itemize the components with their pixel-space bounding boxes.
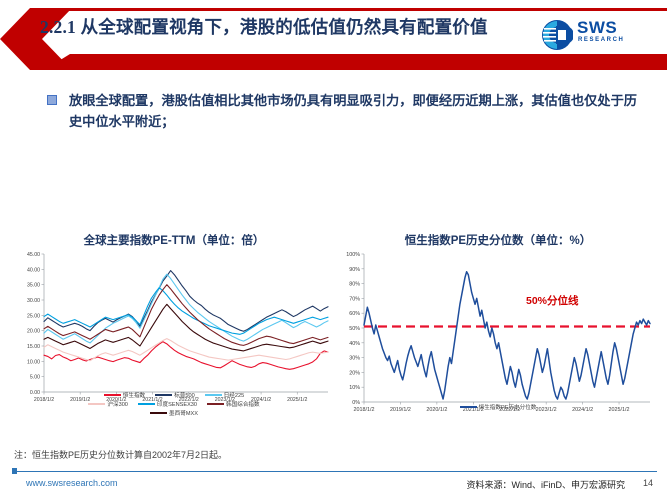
legend-swatch-icon <box>104 394 121 396</box>
bullet-text: 放眼全球配置，港股估值相比其他市场仍具有明显吸引力，即便经历近期上涨，其估值也仅… <box>69 90 637 132</box>
page-title: 2.2.1 从全球配置视角下，港股的低估值仍然具有配置价值 <box>40 14 488 39</box>
svg-text:30%: 30% <box>349 356 360 362</box>
header-red-underline <box>44 54 667 70</box>
legend-left: 恒生指数标普500日经225 沪深300印度SENSEX30韩国综合指数 墨西哥… <box>14 390 334 417</box>
legend-label: 沪深300 <box>107 400 128 408</box>
legend-label: 日经225 <box>224 391 245 399</box>
legend-swatch-icon <box>155 394 172 396</box>
legend-item: 印度SENSEX30 <box>138 400 197 408</box>
footer-source: 资料来源：Wind、iFinD、申万宏源研究 <box>466 478 625 491</box>
plot-area-right: 0%10%20%30%40%50%60%70%80%90%100%2018/1/… <box>338 248 658 418</box>
svg-text:40%: 40% <box>349 341 360 347</box>
legend-swatch-icon <box>150 412 167 414</box>
sws-logo: SWS RESEARCH <box>541 18 659 52</box>
legend-swatch-icon <box>88 403 105 405</box>
legend-item: 日经225 <box>205 391 245 399</box>
slide: 2.2.1 从全球配置视角下，港股的低估值仍然具有配置价值 SWS RESEAR… <box>0 0 667 500</box>
legend-item: 沪深300 <box>88 400 128 408</box>
percentile-annotation: 50%分位线 <box>526 293 579 308</box>
svg-text:25.00: 25.00 <box>27 313 40 319</box>
svg-text:20%: 20% <box>349 370 360 376</box>
svg-text:70%: 70% <box>349 296 360 302</box>
svg-text:30.00: 30.00 <box>27 298 40 304</box>
svg-text:10.00: 10.00 <box>27 359 40 365</box>
legend-label: 印度SENSEX30 <box>157 400 197 408</box>
legend-swatch-icon <box>460 406 477 408</box>
legend-item: 墨西哥MXX <box>150 409 198 417</box>
line-chart-left: 0.005.0010.0015.0020.0025.0030.0035.0040… <box>14 248 334 408</box>
slide-header: 2.2.1 从全球配置视角下，港股的低估值仍然具有配置价值 SWS RESEAR… <box>0 8 667 70</box>
footer-divider <box>12 471 657 472</box>
chart-global-pe-ttm: 全球主要指数PE-TTM（单位：倍） 0.005.0010.0015.0020.… <box>14 232 334 432</box>
line-chart-right: 0%10%20%30%40%50%60%70%80%90%100%2018/1/… <box>338 248 658 418</box>
footnote: 注：恒生指数PE历史分位数计算自2002年7月2日起。 <box>14 448 227 461</box>
legend-label: 墨西哥MXX <box>169 409 198 417</box>
svg-text:80%: 80% <box>349 282 360 288</box>
svg-text:5.00: 5.00 <box>30 375 40 381</box>
chart-title-left: 全球主要指数PE-TTM（单位：倍） <box>14 232 334 248</box>
legend-label: 恒生指数PE历史分位数 <box>479 403 537 411</box>
footer-website-link[interactable]: www.swsresearch.com <box>26 478 118 488</box>
legend-label: 韩国综合指数 <box>226 400 260 408</box>
svg-text:90%: 90% <box>349 267 360 273</box>
legend-right: 恒生指数PE历史分位数 <box>338 402 658 411</box>
sws-logo-subtext: RESEARCH <box>578 37 624 43</box>
legend-item: 恒生指数 <box>104 391 145 399</box>
svg-text:45.00: 45.00 <box>27 252 40 258</box>
legend-swatch-icon <box>207 403 224 405</box>
footer-page-number: 14 <box>643 478 653 488</box>
svg-text:10%: 10% <box>349 385 360 391</box>
legend-swatch-icon <box>205 394 222 396</box>
svg-text:35.00: 35.00 <box>27 283 40 289</box>
bullet-block: 放眼全球配置，港股估值相比其他市场仍具有明显吸引力，即便经历近期上涨，其估值也仅… <box>47 90 637 132</box>
plot-area-left: 0.005.0010.0015.0020.0025.0030.0035.0040… <box>14 248 334 408</box>
legend-item: 恒生指数PE历史分位数 <box>460 403 537 411</box>
chart-hsi-pe-percentile: 恒生指数PE历史分位数（单位：%） 0%10%20%30%40%50%60%70… <box>338 232 658 432</box>
legend-item: 标普500 <box>155 391 195 399</box>
legend-label: 标普500 <box>174 391 195 399</box>
svg-text:20.00: 20.00 <box>27 329 40 335</box>
legend-label: 恒生指数 <box>123 391 145 399</box>
sws-logo-mark-icon <box>541 19 573 51</box>
slide-footer: www.swsresearch.com 资料来源：Wind、iFinD、申万宏源… <box>0 474 667 500</box>
svg-text:60%: 60% <box>349 311 360 317</box>
sws-logo-text: SWS <box>577 19 617 36</box>
svg-text:15.00: 15.00 <box>27 344 40 350</box>
legend-swatch-icon <box>138 403 155 405</box>
svg-text:100%: 100% <box>346 252 360 258</box>
chart-title-right: 恒生指数PE历史分位数（单位：%） <box>338 232 658 248</box>
legend-item: 韩国综合指数 <box>207 400 260 408</box>
svg-text:40.00: 40.00 <box>27 267 40 273</box>
svg-text:50%: 50% <box>349 326 360 332</box>
bullet-square-icon <box>47 95 57 105</box>
